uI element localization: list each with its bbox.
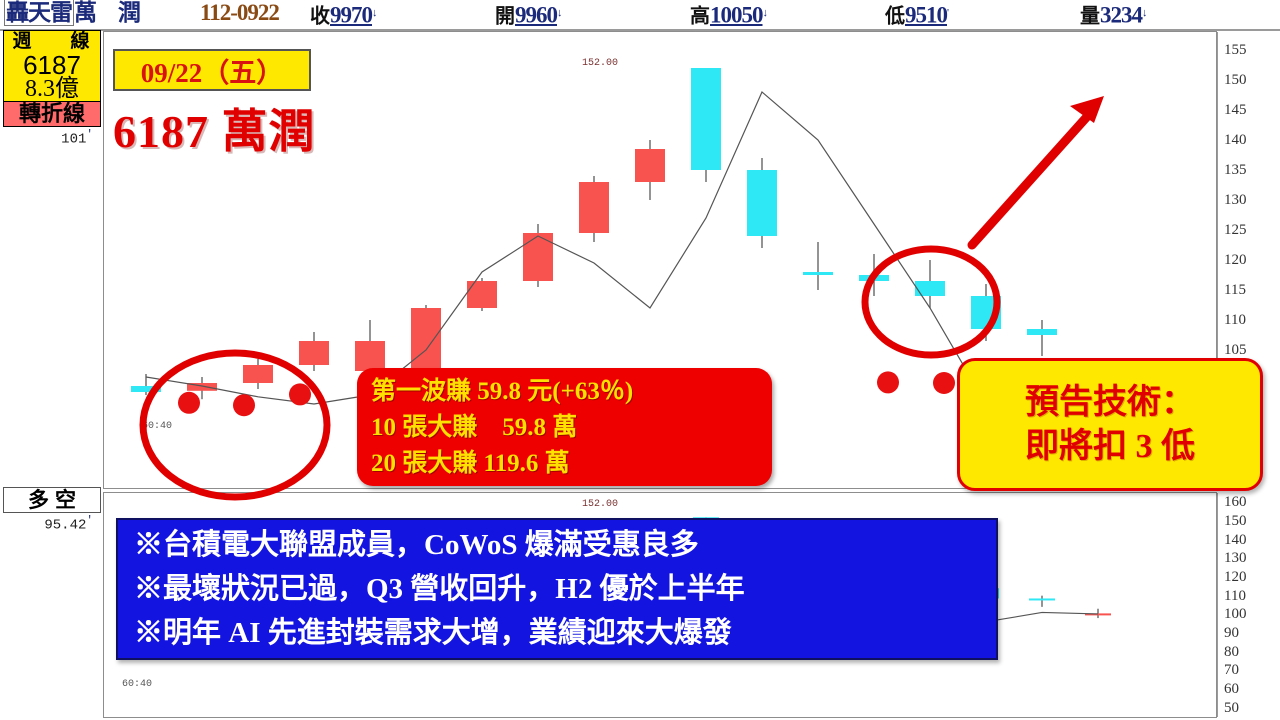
low-quote: 低9510' bbox=[885, 0, 949, 31]
profit-line-1: 第一波賺 59.8 元(+63％) bbox=[357, 374, 772, 410]
low-value: 9510 bbox=[905, 2, 947, 27]
open-label: 開 bbox=[495, 5, 515, 27]
ma-ratio-annotation: 60:40 bbox=[142, 421, 172, 432]
volume-tick-icon: ↓ bbox=[1142, 7, 1148, 19]
volume-quote: 量3234↓ bbox=[1080, 0, 1148, 31]
axis-tick-label: 145 bbox=[1224, 103, 1247, 117]
indicator-name-label[interactable]: 轉折線 bbox=[3, 102, 101, 127]
close-tick-icon: ↓ bbox=[372, 7, 378, 19]
candle-body bbox=[299, 341, 329, 365]
axis-tick-label: 120 bbox=[1224, 253, 1247, 267]
candle-body bbox=[523, 233, 553, 281]
candle-body bbox=[691, 68, 721, 170]
candle-body bbox=[579, 182, 609, 233]
indicator-value-label: 101' bbox=[3, 127, 103, 148]
low-label: 低 bbox=[885, 5, 905, 27]
candle-body bbox=[859, 275, 889, 281]
close-label: 收 bbox=[310, 5, 330, 27]
news-line-3: ※明年 AI 先進封裝需求大增，業績迎來大爆發 bbox=[118, 611, 996, 655]
axis-tick-label: 100 bbox=[1224, 607, 1247, 621]
candle-body bbox=[747, 170, 777, 236]
forecast-line-2: 即將扣 3 低 bbox=[1025, 425, 1195, 469]
news-callout-box: ※台積電大聯盟成員，CoWoS 爆滿受惠良多 ※最壞狀況已過，Q3 營收回升，H… bbox=[116, 518, 998, 660]
open-tick-icon: ↓ bbox=[557, 7, 563, 19]
axis-tick-label: 110 bbox=[1224, 313, 1246, 327]
highlight-dot bbox=[289, 383, 311, 405]
candle-body bbox=[1027, 329, 1057, 335]
volume-value: 3234 bbox=[1100, 2, 1142, 27]
open-quote: 開9960↓ bbox=[495, 0, 563, 31]
profit-line-2: 10 張大賺 59.8 萬 bbox=[357, 410, 772, 446]
app-header: 轟天雷萬 潤 112-0922 收9970↓ 開9960↓ 高10050↓ 低9… bbox=[0, 0, 1280, 31]
lower-indicator-label[interactable]: 多空 bbox=[3, 487, 101, 513]
axis-tick-label: 150 bbox=[1224, 73, 1247, 87]
stock-code-label: 6187 bbox=[4, 53, 100, 77]
forecast-line-1: 預告技術： bbox=[1025, 381, 1195, 425]
axis-tick-label: 70 bbox=[1224, 663, 1239, 677]
axis-tick-label: 155 bbox=[1224, 43, 1247, 57]
axis-tick-label: 125 bbox=[1224, 223, 1247, 237]
brand-title: 轟天雷萬 潤 bbox=[4, 0, 140, 26]
period-info-block[interactable]: 週 線 6187 8.3億 bbox=[3, 30, 101, 102]
axis-tick-label: 130 bbox=[1224, 193, 1247, 207]
profit-callout-box: 第一波賺 59.8 元(+63％) 10 張大賺 59.8 萬 20 張大賺 1… bbox=[357, 368, 772, 486]
candle-body bbox=[1029, 598, 1055, 600]
page-title: 6187 萬潤 bbox=[113, 95, 316, 161]
low-tick-icon: ' bbox=[947, 7, 949, 19]
high-value: 10050 bbox=[710, 2, 763, 27]
axis-tick-label: 150 bbox=[1224, 514, 1247, 528]
lower-ma-ratio-annotation: 60:40 bbox=[122, 679, 152, 690]
candle-body bbox=[803, 272, 833, 275]
axis-tick-label: 140 bbox=[1224, 133, 1247, 147]
axis-tick-label: 140 bbox=[1224, 533, 1247, 547]
candle-body bbox=[915, 281, 945, 296]
candle-body bbox=[467, 281, 497, 308]
axis-tick-label: 60 bbox=[1224, 682, 1239, 696]
high-tick-icon: ↓ bbox=[763, 7, 769, 19]
lower-y-axis: 1601501401301201101009080706050 bbox=[1218, 493, 1278, 717]
candle-body bbox=[355, 341, 385, 371]
profit-line-3: 20 張大賺 119.6 萬 bbox=[357, 446, 772, 482]
news-line-2: ※最壞狀況已過，Q3 營收回升，H2 優於上半年 bbox=[118, 567, 996, 611]
peak-price-annotation: 152.00 bbox=[582, 58, 618, 69]
high-quote: 高10050↓ bbox=[690, 0, 768, 31]
axis-tick-label: 120 bbox=[1224, 570, 1247, 584]
lower-info-panel: 多空 95.42' bbox=[3, 487, 103, 534]
highlight-dot bbox=[178, 392, 200, 414]
highlight-dot bbox=[233, 394, 255, 416]
brand-boxed-label: 轟天雷 bbox=[4, 0, 74, 26]
forecast-callout-box: 預告技術： 即將扣 3 低 bbox=[957, 358, 1263, 491]
axis-tick-label: 50 bbox=[1224, 701, 1239, 715]
turnover-label: 8.3億 bbox=[4, 77, 100, 101]
close-quote: 收9970↓ bbox=[310, 0, 378, 31]
left-info-panel: 週 線 6187 8.3億 轉折線 101' bbox=[3, 30, 103, 148]
candle-body bbox=[243, 365, 273, 383]
date-code-label: 112-0922 bbox=[200, 0, 279, 26]
stock-name-label: 萬 潤 bbox=[74, 0, 140, 25]
axis-tick-label: 105 bbox=[1224, 343, 1247, 357]
highlight-dot bbox=[933, 372, 955, 394]
candle-body bbox=[971, 296, 1001, 329]
axis-tick-label: 160 bbox=[1224, 495, 1247, 509]
axis-tick-label: 130 bbox=[1224, 551, 1247, 565]
axis-tick-label: 135 bbox=[1224, 163, 1247, 177]
candle-body bbox=[635, 149, 665, 182]
axis-tick-label: 90 bbox=[1224, 626, 1239, 640]
highlight-dot bbox=[877, 371, 899, 393]
high-label: 高 bbox=[690, 5, 710, 27]
candle-body bbox=[131, 386, 161, 392]
lower-peak-price-annotation: 152.00 bbox=[582, 499, 618, 510]
axis-tick-label: 115 bbox=[1224, 283, 1246, 297]
close-value: 9970 bbox=[330, 2, 372, 27]
lower-indicator-value-label: 95.42' bbox=[3, 513, 103, 534]
open-value: 9960 bbox=[515, 2, 557, 27]
volume-label: 量 bbox=[1080, 5, 1100, 27]
candle-body bbox=[411, 308, 441, 371]
axis-tick-label: 80 bbox=[1224, 645, 1239, 659]
news-line-1: ※台積電大聯盟成員，CoWoS 爆滿受惠良多 bbox=[118, 523, 996, 567]
axis-tick-label: 110 bbox=[1224, 589, 1246, 603]
date-badge: 09/22（五） bbox=[113, 49, 311, 91]
